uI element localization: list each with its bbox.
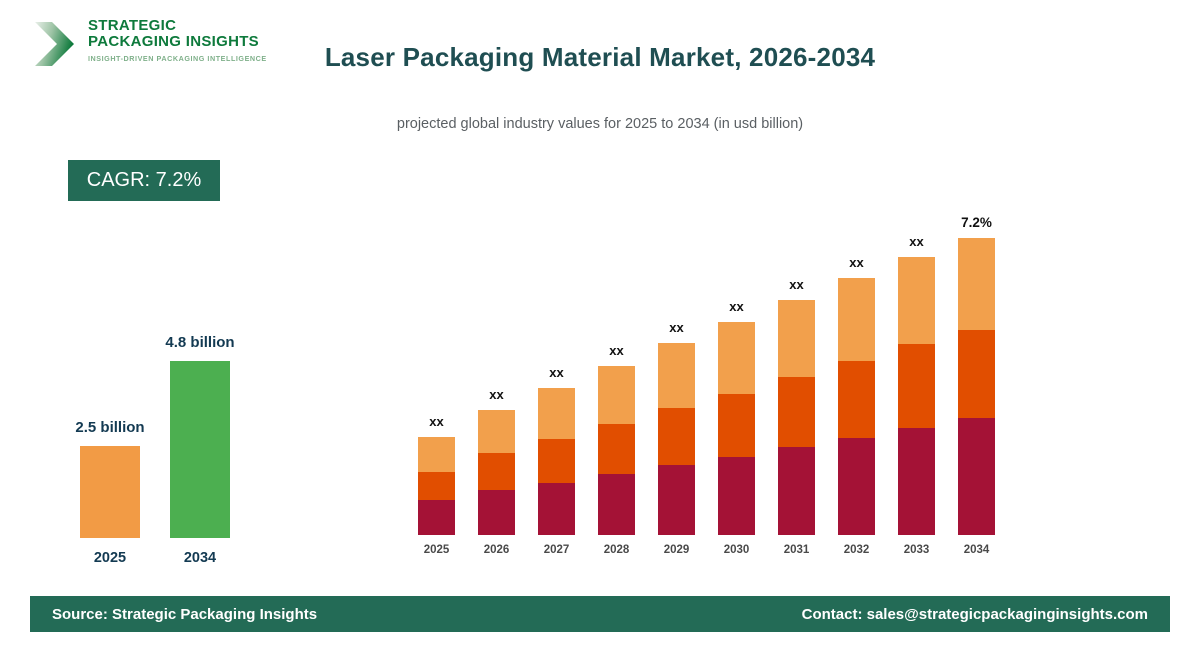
stacked-segment-segment-1-2030: [718, 457, 755, 535]
stacked-bar-2028: [598, 366, 635, 535]
stacked-segment-segment-3-2029: [658, 343, 695, 408]
stacked-bar-value-label-2034: 7.2%: [942, 215, 1012, 230]
stacked-segment-segment-1-2032: [838, 438, 875, 535]
cagr-badge-label: CAGR: 7.2%: [87, 169, 201, 192]
stacked-segment-segment-3-2027: [538, 388, 575, 439]
comparison-bar-2025: [80, 446, 140, 538]
stacked-bar-value-label-2032: xx: [822, 255, 892, 270]
page-title: Laser Packaging Material Market, 2026-20…: [0, 42, 1200, 73]
stacked-segment-segment-3-2032: [838, 278, 875, 361]
footer-contact: Contact: sales@strategicpackaginginsight…: [802, 606, 1148, 623]
stacked-segment-segment-1-2025: [418, 500, 455, 535]
stacked-bar-value-label-2033: xx: [882, 234, 952, 249]
stacked-bar-value-label-2029: xx: [642, 320, 712, 335]
footer-bar: Source: Strategic Packaging Insights Con…: [30, 596, 1170, 632]
stacked-bar-value-label-2027: xx: [522, 365, 592, 380]
comparison-year-label-2025: 2025: [60, 550, 160, 566]
market-size-comparison-chart: 2.5 billion20254.8 billion2034: [55, 330, 275, 570]
stacked-bar-2034: [958, 238, 995, 535]
stacked-segment-segment-3-2025: [418, 437, 455, 472]
stacked-bar-value-label-2026: xx: [462, 387, 532, 402]
stacked-segment-segment-3-2034: [958, 238, 995, 330]
stacked-bar-year-label-2034: 2034: [942, 544, 1012, 556]
comparison-bar-fill: [170, 361, 230, 538]
stacked-segment-segment-1-2026: [478, 490, 515, 535]
stacked-segment-segment-3-2031: [778, 300, 815, 377]
page-subtitle: projected global industry values for 202…: [0, 116, 1200, 132]
comparison-bar-fill: [80, 446, 140, 538]
stacked-bar-2026: [478, 410, 515, 535]
stacked-segment-segment-2-2033: [898, 344, 935, 428]
stacked-bar-2029: [658, 343, 695, 535]
stacked-bar-value-label-2030: xx: [702, 299, 772, 314]
stacked-bar-2030: [718, 322, 755, 535]
stacked-bar-2027: [538, 388, 575, 535]
stacked-segment-segment-2-2028: [598, 424, 635, 474]
stacked-segment-segment-2-2026: [478, 453, 515, 490]
stacked-bar-2025: [418, 437, 455, 535]
stacked-segment-segment-2-2025: [418, 472, 455, 500]
stacked-segment-segment-1-2028: [598, 474, 635, 535]
stacked-segment-segment-3-2028: [598, 366, 635, 424]
stacked-bar-2031: [778, 300, 815, 535]
comparison-value-label-2034: 4.8 billion: [110, 334, 290, 351]
stacked-segment-segment-1-2033: [898, 428, 935, 535]
stacked-segment-segment-2-2032: [838, 361, 875, 438]
stacked-segment-segment-2-2029: [658, 408, 695, 465]
stacked-bar-2032: [838, 278, 875, 535]
chart-canvas: STRATEGIC PACKAGING INSIGHTS INSIGHT-DRI…: [0, 0, 1200, 650]
stacked-segment-segment-2-2027: [538, 439, 575, 483]
stacked-segment-segment-3-2033: [898, 257, 935, 344]
stacked-segment-segment-1-2027: [538, 483, 575, 535]
stacked-segment-segment-2-2031: [778, 377, 815, 447]
brand-line-1: STRATEGIC: [88, 18, 267, 34]
stacked-segment-segment-1-2031: [778, 447, 815, 535]
stacked-segment-segment-2-2034: [958, 330, 995, 418]
footer-source: Source: Strategic Packaging Insights: [52, 606, 317, 623]
stacked-segment-segment-3-2026: [478, 410, 515, 453]
stacked-bar-2033: [898, 257, 935, 535]
stacked-bar-value-label-2025: xx: [402, 414, 472, 429]
stacked-bar-value-label-2031: xx: [762, 277, 832, 292]
stacked-bar-value-label-2028: xx: [582, 343, 652, 358]
stacked-segment-segment-1-2029: [658, 465, 695, 535]
stacked-segment-segment-1-2034: [958, 418, 995, 535]
comparison-bar-2034: [170, 361, 230, 538]
stacked-segment-segment-2-2030: [718, 394, 755, 457]
comparison-year-label-2034: 2034: [150, 550, 250, 566]
cagr-badge: CAGR: 7.2%: [68, 160, 220, 201]
segment-forecast-chart: xx2025xx2026xx2027xx2028xx2029xx2030xx20…: [400, 200, 1020, 560]
stacked-segment-segment-3-2030: [718, 322, 755, 394]
